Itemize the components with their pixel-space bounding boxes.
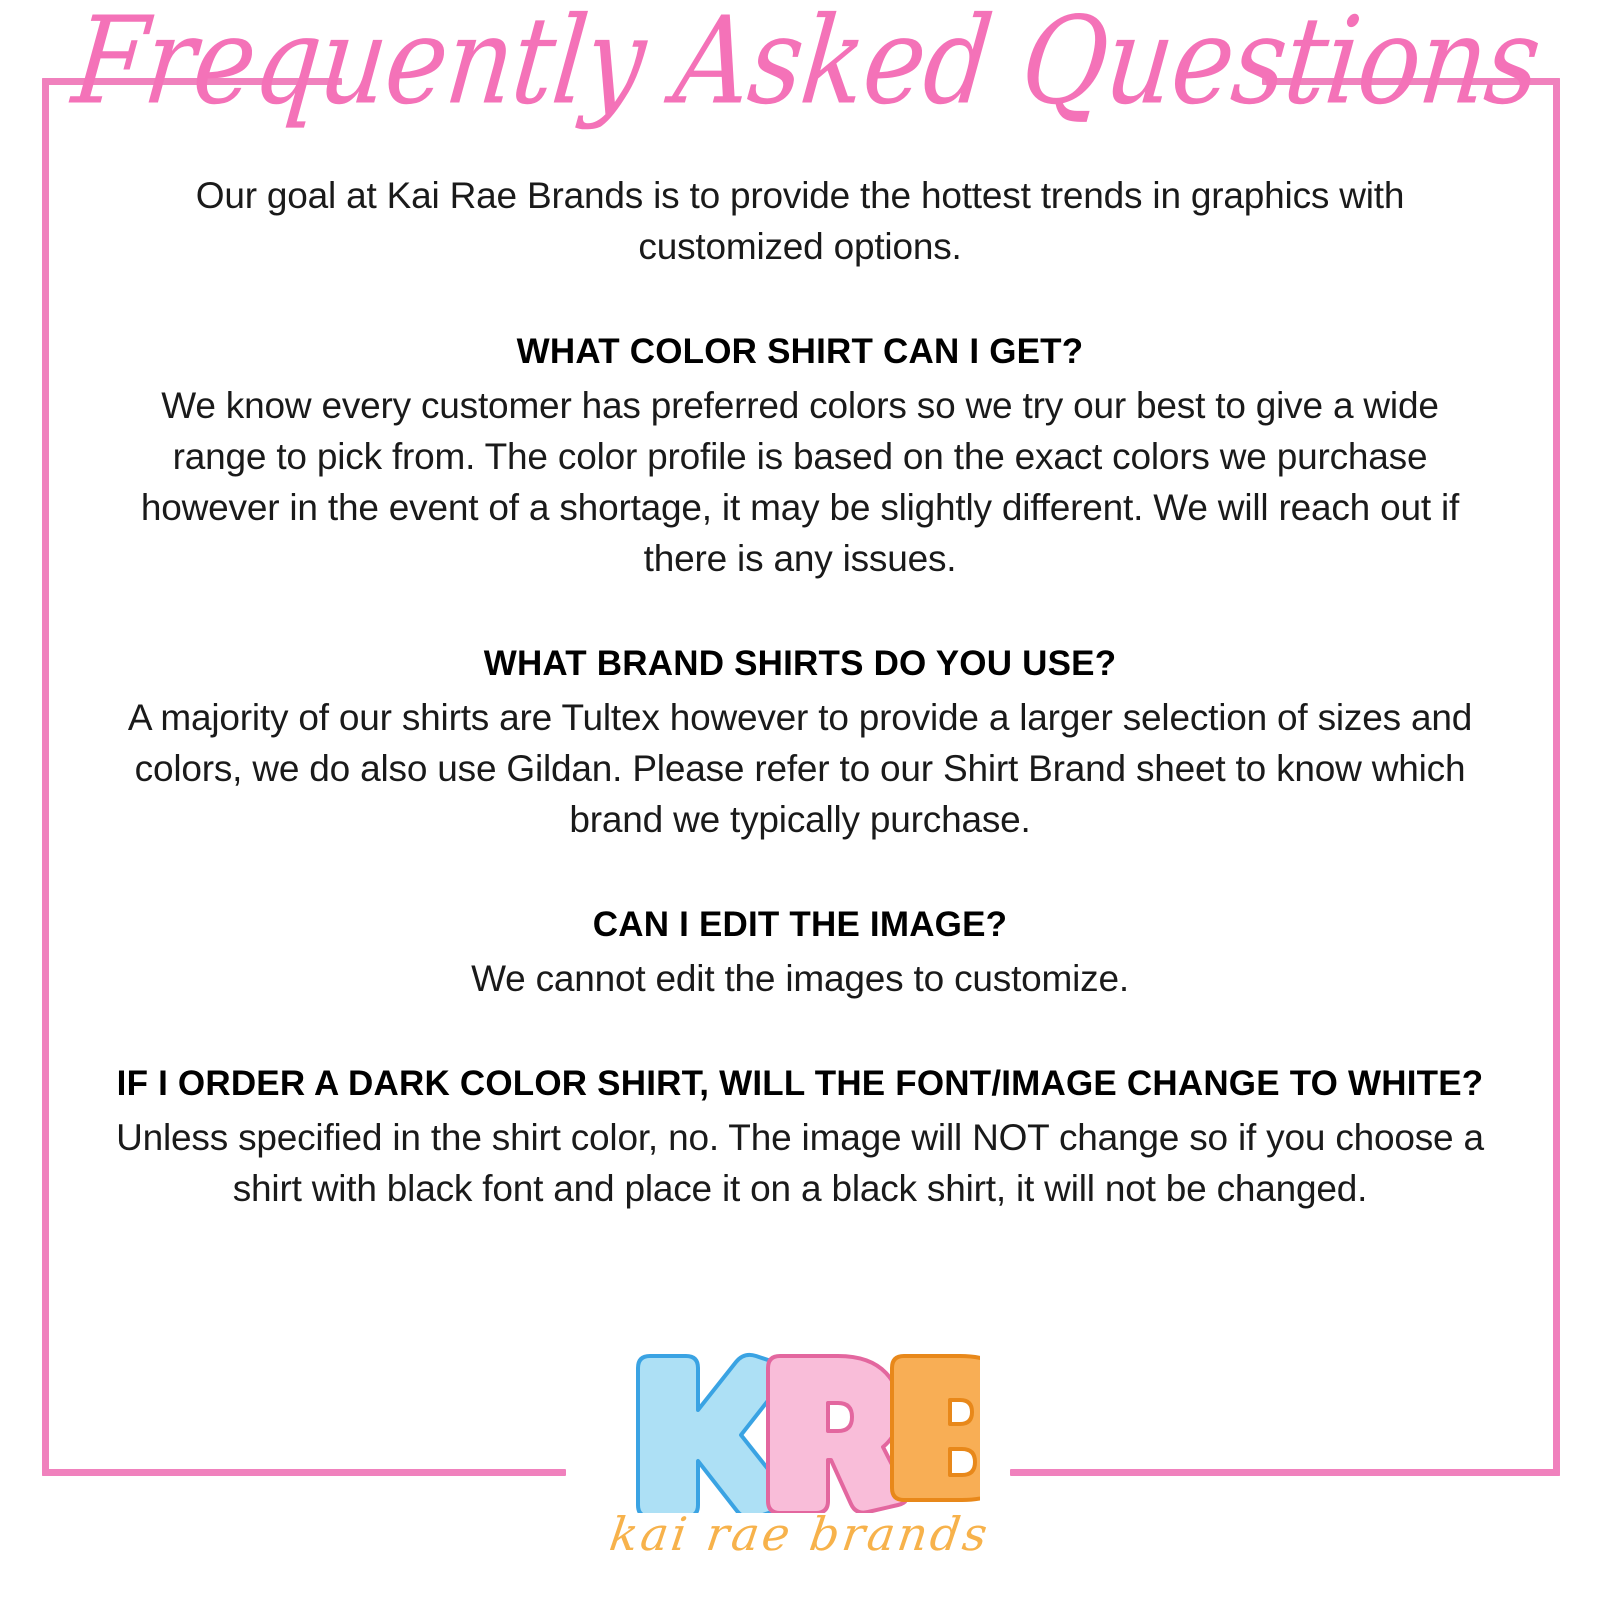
brand-name-script: kai rae brands: [0, 1507, 1600, 1561]
faq-question: CAN I EDIT THE IMAGE?: [110, 901, 1490, 949]
faq-question: WHAT BRAND SHIRTS DO YOU USE?: [110, 640, 1490, 688]
faq-item: CAN I EDIT THE IMAGE? We cannot edit the…: [110, 901, 1490, 1004]
krb-logo-icon: [0, 1348, 1600, 1513]
intro-paragraph: Our goal at Kai Rae Brands is to provide…: [110, 170, 1490, 272]
faq-answer: We know every customer has preferred col…: [110, 380, 1490, 584]
page-title: Frequently Asked Questions: [68, 0, 1545, 122]
logo-letter-r: [768, 1356, 907, 1513]
faq-item: WHAT COLOR SHIRT CAN I GET? We know ever…: [110, 328, 1490, 584]
faq-answer: Unless specified in the shirt color, no.…: [110, 1112, 1490, 1214]
faq-answer: A majority of our shirts are Tultex howe…: [110, 692, 1490, 845]
faq-page: Frequently Asked Questions Our goal at K…: [0, 0, 1600, 1600]
faq-item: IF I ORDER A DARK COLOR SHIRT, WILL THE …: [110, 1060, 1490, 1214]
frame-segment-right: [1553, 78, 1560, 1476]
logo-letter-b: [892, 1356, 980, 1500]
frame-segment-top-left: [42, 78, 342, 85]
frame-segment-top-right: [1262, 78, 1560, 85]
faq-question: IF I ORDER A DARK COLOR SHIRT, WILL THE …: [110, 1060, 1490, 1108]
frame-segment-left: [42, 78, 49, 1476]
page-title-container: Frequently Asked Questions: [0, 16, 1600, 122]
faq-answer: We cannot edit the images to customize.: [110, 953, 1490, 1004]
faq-item: WHAT BRAND SHIRTS DO YOU USE? A majority…: [110, 640, 1490, 845]
faq-question: WHAT COLOR SHIRT CAN I GET?: [110, 328, 1490, 376]
faq-content: Our goal at Kai Rae Brands is to provide…: [110, 170, 1490, 1214]
brand-logo: kai rae brands: [0, 1348, 1600, 1561]
